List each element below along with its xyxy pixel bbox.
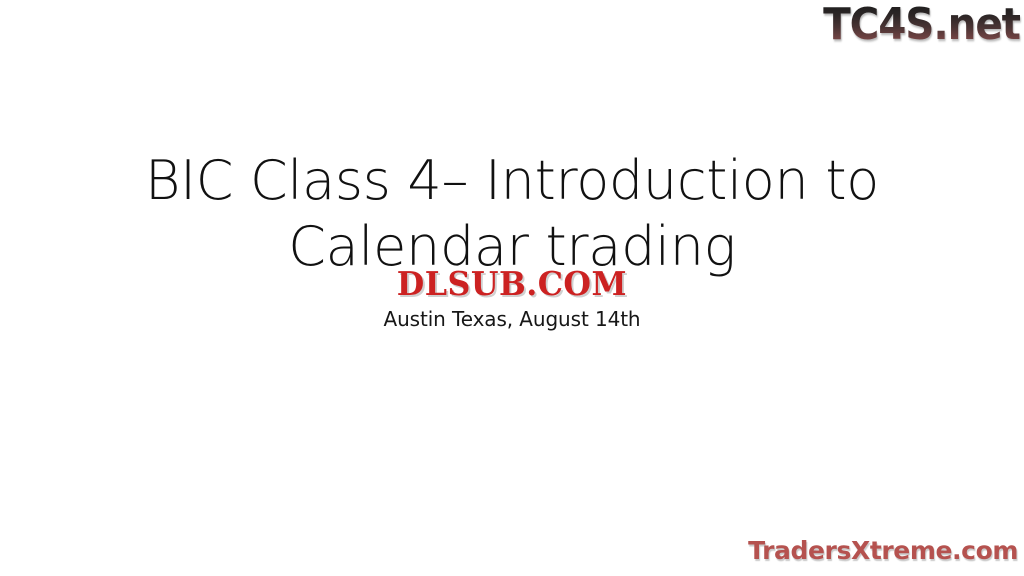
- tradersxtreme-logo: TradersXtreme.com: [748, 536, 1018, 566]
- presentation-slide: TC4S.net BIC Class 4– Introduction to Ca…: [0, 0, 1024, 576]
- title-line-2: Calendar trading: [60, 214, 964, 280]
- slide-title: BIC Class 4– Introduction to Calendar tr…: [0, 148, 1024, 280]
- title-line-1: BIC Class 4– Introduction to: [60, 148, 964, 214]
- tc4s-logo: TC4S.net: [823, 2, 1020, 48]
- slide-subtitle: Austin Texas, August 14th: [0, 306, 1024, 332]
